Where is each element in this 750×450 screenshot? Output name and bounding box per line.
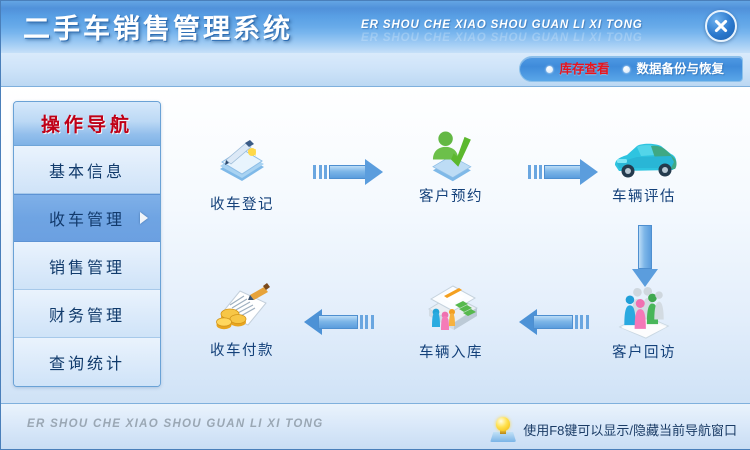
arrow-tick [319, 165, 322, 179]
workflow-node-customer-appointment[interactable]: 客户预约 [396, 127, 506, 206]
bullet-dot-icon [623, 66, 630, 73]
application-window: 二手车销售管理系统 ER SHOU CHE XIAO SHOU GUAN LI … [0, 0, 750, 450]
footer-pinyin-label: ER SHOU CHE XIAO SHOU GUAN LI XI TONG [27, 418, 323, 430]
car-icon [607, 135, 681, 183]
close-circle-icon[interactable] [705, 10, 737, 42]
arrow-shaft [329, 165, 369, 179]
arrow-tick [534, 165, 537, 179]
sidebar-item-sales[interactable]: 销售管理 [14, 242, 160, 290]
arrow-head [365, 159, 383, 185]
sidebar-item-finance[interactable]: 财务管理 [14, 290, 160, 338]
workflow-node-label: 客户回访 [612, 341, 676, 362]
title-bar: 二手车销售管理系统 ER SHOU CHE XIAO SHOU GUAN LI … [1, 1, 750, 53]
sidebar-header: 操作导航 [14, 102, 160, 146]
money-invoice-icon [210, 279, 274, 337]
lightbulb-icon [490, 416, 516, 442]
arrow-tick [586, 315, 589, 329]
arrow-shaft [544, 165, 584, 179]
status-bar: ER SHOU CHE XIAO SHOU GUAN LI XI TONG 使用… [1, 403, 750, 449]
workflow-connector-arrow-left [519, 309, 591, 335]
page-title-pinyin: ER SHOU CHE XIAO SHOU GUAN LI XI TONG [361, 19, 643, 31]
page-title-pinyin-reflection: ER SHOU CHE XIAO SHOU GUAN LI XI TONG [361, 32, 643, 44]
sidebar-item-label: 收车管理 [49, 206, 125, 230]
main-content: 操作导航 基本信息 收车管理 销售管理 财务管理 查询统计 [1, 87, 750, 405]
arrow-shaft [533, 315, 573, 329]
arrow-shaft [638, 225, 652, 269]
top-menu-item-backup-restore-label: 数据备份与恢复 [636, 63, 724, 76]
sidebar-item-label: 销售管理 [49, 254, 125, 278]
sidebar-item-label: 查询统计 [49, 350, 125, 374]
workflow-node-vehicle-stock-in[interactable]: 车辆入库 [396, 279, 506, 362]
arrow-tick [313, 165, 316, 179]
arrow-tick [365, 315, 368, 329]
workflow-diagram: 收车登记 [171, 87, 750, 405]
workflow-node-label: 车辆评估 [612, 185, 676, 206]
footer-hint: 使用F8键可以显示/隐藏当前导航窗口 [490, 416, 737, 442]
workflow-connector-arrow-right [526, 159, 598, 185]
workflow-connector-arrow-left [304, 309, 376, 335]
warehouse-icon [419, 279, 483, 339]
sidebar-item-basic-info[interactable]: 基本信息 [14, 146, 160, 194]
sidebar-item-query-stats[interactable]: 查询统计 [14, 338, 160, 386]
people-group-icon [614, 283, 674, 339]
arrow-tick [580, 315, 583, 329]
top-menu-item-inventory[interactable]: 库存查看 [546, 63, 609, 76]
bullet-dot-icon [546, 66, 553, 73]
arrow-tick [371, 315, 374, 329]
workflow-node-label: 客户预约 [419, 185, 483, 206]
caret-right-icon [140, 212, 148, 224]
sub-header-bar: 库存查看 数据备份与恢复 [1, 53, 750, 87]
workflow-node-customer-followup[interactable]: 客户回访 [589, 283, 699, 362]
arrow-tick [539, 165, 542, 179]
workflow-node-vehicle-registration[interactable]: 收车登记 [187, 135, 297, 214]
arrow-shaft [318, 315, 358, 329]
top-menu-item-backup-restore[interactable]: 数据备份与恢复 [623, 63, 724, 76]
footer-hint-label: 使用F8键可以显示/隐藏当前导航窗口 [523, 420, 737, 439]
workflow-node-label: 收车付款 [210, 339, 274, 360]
sidebar-item-label: 财务管理 [49, 302, 125, 326]
sidebar-item-label: 基本信息 [49, 158, 125, 182]
sidebar-item-vehicle-intake[interactable]: 收车管理 [14, 194, 160, 242]
top-menu-item-inventory-label: 库存查看 [559, 63, 609, 76]
workflow-node-vehicle-payment[interactable]: 收车付款 [187, 279, 297, 360]
arrow-tick [528, 165, 531, 179]
workflow-node-label: 车辆入库 [419, 341, 483, 362]
arrow-tick [575, 315, 578, 329]
top-menu: 库存查看 数据备份与恢复 [519, 56, 743, 82]
notebook-pen-icon [212, 135, 272, 191]
page-title: 二手车销售管理系统 [23, 7, 293, 46]
sidebar: 操作导航 基本信息 收车管理 销售管理 财务管理 查询统计 [13, 101, 161, 387]
sidebar-header-label: 操作导航 [41, 110, 133, 137]
workflow-node-label: 收车登记 [210, 193, 274, 214]
person-check-icon [421, 127, 481, 183]
arrow-tick [324, 165, 327, 179]
arrow-tick [360, 315, 363, 329]
workflow-connector-arrow-down [632, 225, 658, 287]
workflow-connector-arrow-right [311, 159, 383, 185]
workflow-node-vehicle-appraisal[interactable]: 车辆评估 [589, 135, 699, 206]
